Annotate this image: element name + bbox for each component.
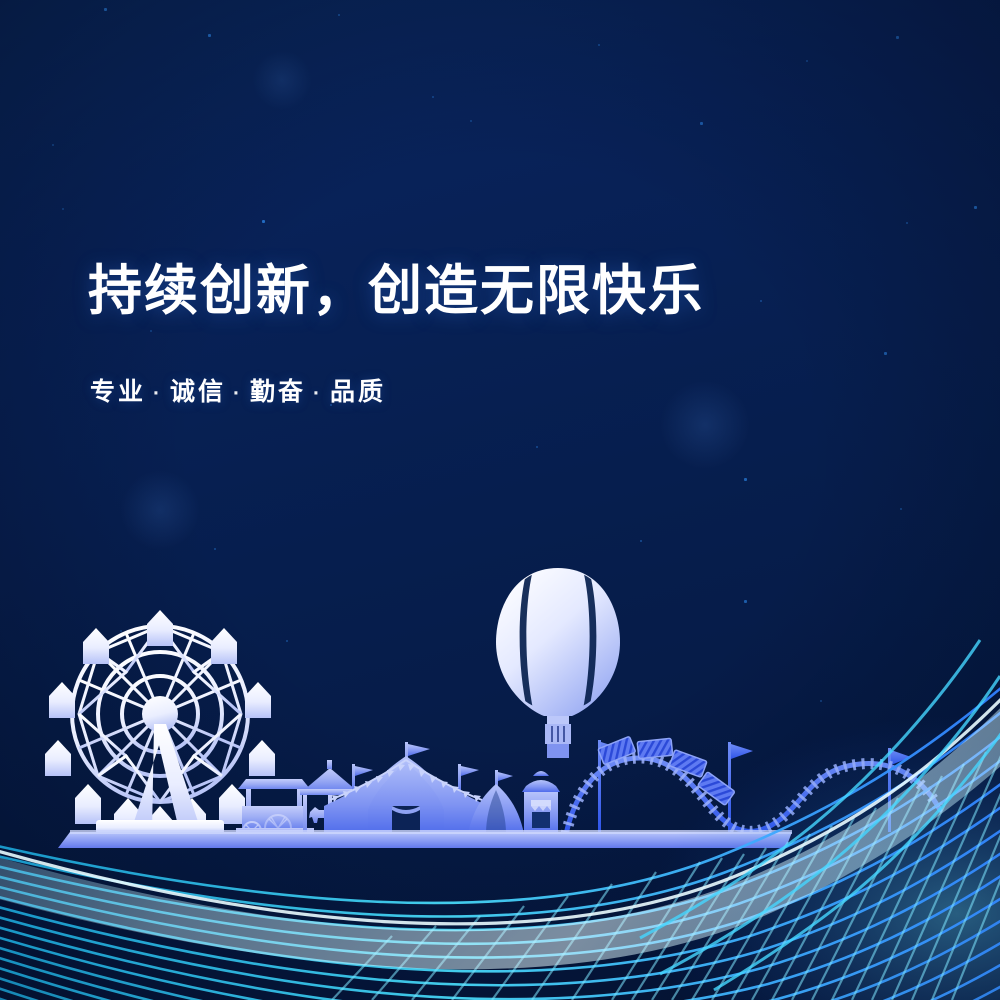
page-title: 持续创新，创造无限快乐 xyxy=(88,262,704,321)
banner-canvas: 持续创新，创造无限快乐 专业·诚信·勤奋·品质 xyxy=(0,0,1000,1000)
subtitle-separator-2: · xyxy=(226,382,250,405)
subtitle-separator-3: · xyxy=(306,382,330,405)
subtitle-word-3: 勤奋 xyxy=(250,378,306,406)
banner-subtitle: 专业·诚信·勤奋·品质 xyxy=(90,372,386,408)
subtitle-word-1: 专业 xyxy=(90,378,146,406)
subtitle-word-4: 品质 xyxy=(330,378,386,406)
wave-mesh-overlay xyxy=(0,0,1000,1000)
subtitle-word-2: 诚信 xyxy=(170,378,226,406)
subtitle-separator-1: · xyxy=(146,382,170,405)
